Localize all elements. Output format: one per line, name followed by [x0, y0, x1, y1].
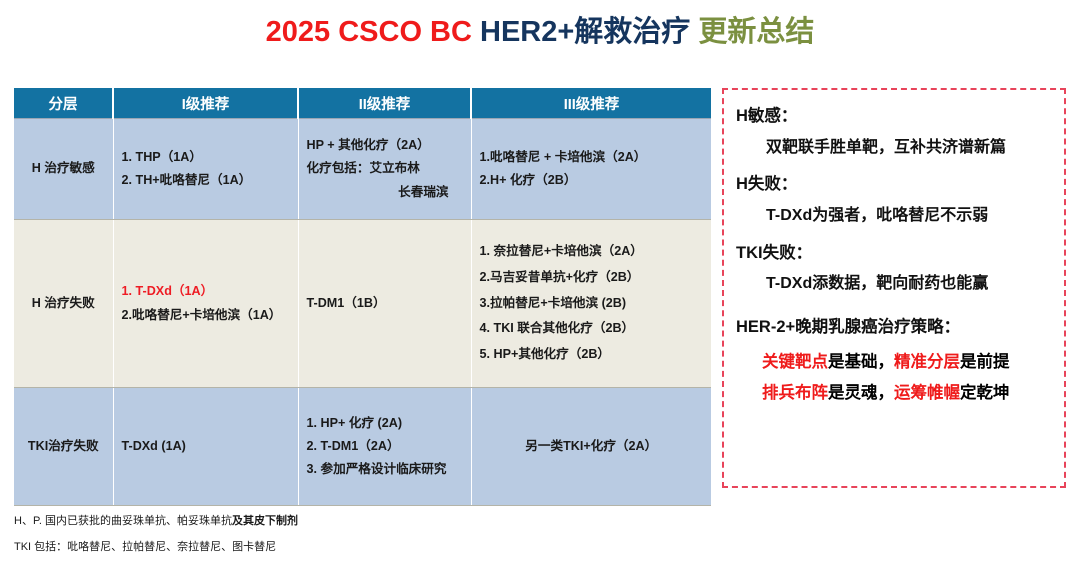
strategy-phrase-highlight: 运筹帷幄 — [894, 384, 960, 402]
strategy-phrase-highlight: 排兵布阵 — [762, 384, 828, 402]
page-title-part-navy: HER2+解救治疗 — [480, 16, 690, 48]
cell-level3-h-sensitive: 1.吡咯替尼 + 卡培他滨（2A） 2.H+ 化疗（2B） — [471, 119, 711, 220]
column-header-level3: III级推荐 — [471, 88, 711, 119]
cell-level2-tki-failure: 1. HP+ 化疗 (2A) 2. T-DM1（2A） 3. 参加严格设计临床研… — [298, 388, 471, 506]
level2-item: 2. T-DM1（2A） — [307, 435, 463, 458]
summary-block-h-sensitive: H敏感： 双靶联手胜单靶，互补共济谱新篇 — [736, 106, 1052, 158]
table-row: TKI治疗失败 T-DXd (1A) 1. HP+ 化疗 (2A) 2. T-D… — [14, 388, 711, 506]
summary-block-h-failure: H失败： T-DXd为强者，吡咯替尼不示弱 — [736, 174, 1052, 226]
summary-heading: H敏感： — [736, 106, 1052, 127]
strategy-phrase: 是前提 — [960, 353, 1010, 371]
level3-item: 1. 奈拉替尼+卡培他滨（2A） — [480, 239, 704, 265]
table-row: H 治疗失败 1. T-DXd（1A） 2.吡咯替尼+卡培他滨（1A） T-DM… — [14, 220, 711, 388]
level1-item: 1. THP（1A） — [122, 146, 290, 169]
recommendation-table: 分层 I级推荐 II级推荐 III级推荐 H 治疗敏感 1. THP（1A） 2… — [14, 88, 711, 506]
table-header-row: 分层 I级推荐 II级推荐 III级推荐 — [14, 88, 711, 119]
column-header-level1: I级推荐 — [113, 88, 298, 119]
footnote-text: H、P. 国内已获批的曲妥珠单抗、帕妥珠单抗 — [14, 515, 232, 527]
level2-item: HP + 其他化疗（2A） — [307, 134, 463, 157]
table-row: H 治疗敏感 1. THP（1A） 2. TH+吡咯替尼（1A） HP + 其他… — [14, 119, 711, 220]
summary-block-tki-failure: TKI失败： T-DXd添数据，靶向耐药也能赢 — [736, 243, 1052, 295]
page-title-part-olive: 更新总结 — [690, 16, 814, 48]
footnote-line-1: H、P. 国内已获批的曲妥珠单抗、帕妥珠单抗及其皮下制剂 — [14, 512, 714, 528]
level2-item: 1. HP+ 化疗 (2A) — [307, 412, 463, 435]
page-title: 2025 CSCO BC HER2+解救治疗 更新总结 — [0, 8, 1080, 50]
strategy-line-2: 排兵布阵是灵魂，运筹帷幄定乾坤 — [736, 383, 1052, 404]
cell-stratification-tki-failure: TKI治疗失败 — [14, 388, 113, 506]
footnote-text-bold: 及其皮下制剂 — [232, 515, 298, 527]
level3-item: 1.吡咯替尼 + 卡培他滨（2A） — [480, 146, 704, 169]
level1-item: 2.吡咯替尼+卡培他滨（1A） — [122, 304, 290, 327]
summary-heading: TKI失败： — [736, 243, 1052, 264]
cell-level3-h-failure: 1. 奈拉替尼+卡培他滨（2A） 2.马吉妥昔单抗+化疗（2B） 3.拉帕替尼+… — [471, 220, 711, 388]
level3-item: 5. HP+其他化疗（2B） — [480, 342, 704, 368]
footnote-line-2: TKI 包括：吡咯替尼、拉帕替尼、奈拉替尼、图卡替尼 — [14, 538, 714, 554]
summary-text: T-DXd为强者，吡咯替尼不示弱 — [736, 206, 1052, 227]
level3-item: 2.H+ 化疗（2B） — [480, 169, 704, 192]
level1-item-highlight: 1. T-DXd（1A） — [122, 280, 290, 303]
cell-level1-tki-failure: T-DXd (1A) — [113, 388, 298, 506]
summary-text: 双靶联手胜单靶，互补共济谱新篇 — [736, 138, 1052, 159]
level3-item: 2.马吉妥昔单抗+化疗（2B） — [480, 265, 704, 291]
cell-level3-tki-failure: 另一类TKI+化疗（2A） — [471, 388, 711, 506]
strategy-phrase: 是基础， — [828, 353, 894, 371]
strategy-phrase-highlight: 精准分层 — [894, 353, 960, 371]
summary-text: T-DXd添数据，靶向耐药也能赢 — [736, 274, 1052, 295]
strategy-phrase: 是灵魂， — [828, 384, 894, 402]
cell-level1-h-failure: 1. T-DXd（1A） 2.吡咯替尼+卡培他滨（1A） — [113, 220, 298, 388]
summary-heading: H失败： — [736, 174, 1052, 195]
level2-item: 化疗包括：艾立布林 — [307, 157, 463, 180]
cell-level2-h-failure: T-DM1（1B） — [298, 220, 471, 388]
level2-item: 3. 参加严格设计临床研究 — [307, 458, 463, 481]
column-header-level2: II级推荐 — [298, 88, 471, 119]
strategy-phrase: 定乾坤 — [960, 384, 1010, 402]
level2-item: 长春瑞滨 — [307, 181, 463, 204]
cell-stratification-h-failure: H 治疗失败 — [14, 220, 113, 388]
cell-stratification-h-sensitive: H 治疗敏感 — [14, 119, 113, 220]
cell-level1-h-sensitive: 1. THP（1A） 2. TH+吡咯替尼（1A） — [113, 119, 298, 220]
page-title-part-red: 2025 CSCO BC — [266, 16, 480, 48]
summary-panel: H敏感： 双靶联手胜单靶，互补共济谱新篇 H失败： T-DXd为强者，吡咯替尼不… — [722, 88, 1066, 488]
column-header-stratification: 分层 — [14, 88, 113, 119]
footnotes: H、P. 国内已获批的曲妥珠单抗、帕妥珠单抗及其皮下制剂 TKI 包括：吡咯替尼… — [14, 512, 714, 564]
strategy-phrase-highlight: 关键靶点 — [762, 353, 828, 371]
level3-item: 4. TKI 联合其他化疗（2B） — [480, 316, 704, 342]
strategy-heading: HER-2+晚期乳腺癌治疗策略： — [736, 317, 1052, 338]
level3-item: 3.拉帕替尼+卡培他滨 (2B) — [480, 291, 704, 317]
strategy-line-1: 关键靶点是基础，精准分层是前提 — [736, 352, 1052, 373]
summary-block-strategy: HER-2+晚期乳腺癌治疗策略： 关键靶点是基础，精准分层是前提 排兵布阵是灵魂… — [736, 317, 1052, 403]
level1-item: 2. TH+吡咯替尼（1A） — [122, 169, 290, 192]
cell-level2-h-sensitive: HP + 其他化疗（2A） 化疗包括：艾立布林 长春瑞滨 — [298, 119, 471, 220]
